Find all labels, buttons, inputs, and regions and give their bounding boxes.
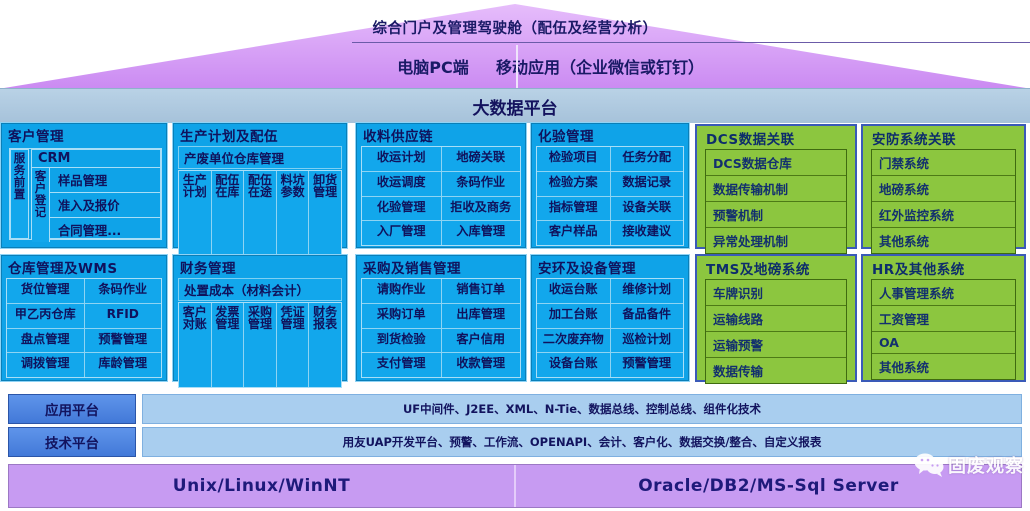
cell-data-transmission[interactable]: 数据传输机制	[706, 176, 846, 202]
cell-transport-route[interactable]: 运输线路	[706, 306, 846, 332]
cell-device-link[interactable]: 设备关联	[611, 197, 684, 221]
panel-assay-management[interactable]: 化验管理 检验项目 任务分配 检验方案 数据记录 指标管理 设备关联 客户样品 …	[530, 122, 690, 249]
cell-voucher-management[interactable]: 凭证管理	[277, 303, 309, 387]
cells-grid: 收运台账 维修计划 加工台账 备品备件 二次废弃物 巡检计划 设备台账 预警管理	[536, 278, 684, 378]
cell-admission-quote[interactable]: 准入及报价	[50, 193, 160, 218]
cell-collection-management[interactable]: 收款管理	[442, 353, 521, 377]
roof-section: 综合门户及管理驾驶舱（配伍及经营分析） 电脑PC端 移动应用（企业微信或钉钉）	[0, 0, 1030, 90]
os-label[interactable]: Unix/Linux/WinNT	[9, 465, 516, 507]
cell-transport-plan[interactable]: 收运计划	[362, 147, 441, 171]
cell-maintenance-plan[interactable]: 维修计划	[611, 279, 684, 303]
panel-title: 生产计划及配伍	[173, 123, 347, 146]
cell-production-plan[interactable]: 生产计划	[179, 171, 211, 254]
cell-processing-ledger[interactable]: 加工台账	[537, 304, 610, 328]
bigdata-platform-band: 大数据平台	[0, 88, 1030, 123]
cell-blend-in-stock[interactable]: 配伍在库	[212, 171, 244, 254]
cell-lab-management[interactable]: 化验管理	[362, 197, 441, 221]
architecture-diagram: 综合门户及管理驾驶舱（配伍及经营分析） 电脑PC端 移动应用（企业微信或钉钉） …	[0, 0, 1030, 511]
technology-platform-row: 技术平台 用友UAP开发平台、预警、工作流、OPENAPI、会计、客户化、数据交…	[8, 427, 1022, 457]
cell-transport-alert[interactable]: 运输预警	[706, 332, 846, 358]
green-list: 人事管理系统 工资管理 OA 其他系统	[871, 279, 1016, 380]
roof-cell-mobile[interactable]: 移动应用（企业微信或钉钉）	[516, 43, 684, 89]
cell-indicator-management[interactable]: 指标管理	[537, 197, 610, 221]
crm-box: CRM 客户登记 样品管理 准入及报价 合同管理...	[31, 149, 161, 239]
green-list: DCS数据仓库 数据传输机制 预警机制 异常处理机制	[705, 149, 847, 254]
panel-tms-weighbridge[interactable]: TMS及地磅系统 车牌识别 运输线路 运输预警 数据传输	[695, 254, 857, 382]
cell-barcode-operation[interactable]: 条码作业	[442, 172, 521, 196]
cell-spare-parts[interactable]: 备品备件	[611, 304, 684, 328]
cell-payroll-management[interactable]: 工资管理	[872, 306, 1015, 332]
panel-security-system-link[interactable]: 安防系统关联 门禁系统 地磅系统 红外监控系统 其他系统	[861, 124, 1026, 249]
cell-warehouse-entry[interactable]: 入库管理	[442, 221, 521, 245]
panel-material-supply-chain[interactable]: 收料供应链 收运计划 地磅关联 收运调度 条码作业 化验管理 拒收及商务 入厂管…	[355, 122, 527, 249]
cell-acceptance-advice[interactable]: 接收建议	[611, 221, 684, 245]
application-platform-content[interactable]: UF中间件、J2EE、XML、N-Tie、数据总线、控制总线、组件化技术	[142, 394, 1022, 424]
roof-cell-pc[interactable]: 电脑PC端	[352, 43, 514, 89]
cells-grid: 收运计划 地磅关联 收运调度 条码作业 化验管理 拒收及商务 入厂管理 入库管理	[361, 146, 521, 246]
panel-title: 财务管理	[173, 255, 347, 278]
cell-abc-warehouse[interactable]: 甲乙丙仓库	[7, 304, 84, 328]
cells-grid: 货位管理 条码作业 甲乙丙仓库 RFID 盘点管理 预警管理 调拨管理 库龄管理	[6, 278, 162, 378]
cell-data-record[interactable]: 数据记录	[611, 172, 684, 196]
cell-data-transmission[interactable]: 数据传输	[706, 358, 846, 383]
technology-platform-content[interactable]: 用友UAP开发平台、预警、工作流、OPENAPI、会计、客户化、数据交换/整合、…	[142, 427, 1022, 457]
cell-oa[interactable]: OA	[872, 332, 1015, 354]
cell-service-frontend[interactable]: 服务前置	[10, 149, 29, 239]
cell-access-control[interactable]: 门禁系统	[872, 150, 1015, 176]
crm-composite: 服务前置 CRM 客户登记 样品管理 准入及报价 合同管理...	[9, 148, 162, 240]
panel-title: 化验管理	[531, 123, 689, 146]
cell-requisition[interactable]: 请购作业	[362, 279, 441, 303]
vertical-cells: 生产计划 配伍在库 配伍在途 料坑参数 卸货管理	[178, 170, 342, 255]
cell-contract-management[interactable]: 合同管理...	[50, 218, 160, 242]
cell-unloading-management[interactable]: 卸货管理	[309, 171, 341, 254]
panel-title: TMS及地磅系统	[697, 256, 855, 279]
green-list: 门禁系统 地磅系统 红外监控系统 其他系统	[871, 149, 1016, 254]
cell-hr-system[interactable]: 人事管理系统	[872, 280, 1015, 306]
panel-title: 安环及设备管理	[531, 255, 689, 278]
roof-title: 综合门户及管理驾驶舱（配伍及经营分析）	[0, 17, 1030, 38]
panel-title: 客户管理	[1, 123, 167, 146]
cell-sales-order[interactable]: 销售订单	[442, 279, 521, 303]
cell-barcode-operation[interactable]: 条码作业	[85, 279, 162, 303]
panel-title: HR及其他系统	[863, 256, 1024, 279]
panel-hr-other-systems[interactable]: HR及其他系统 人事管理系统 工资管理 OA 其他系统	[861, 254, 1026, 382]
cell-plate-recognition[interactable]: 车牌识别	[706, 280, 846, 306]
application-platform-row: 应用平台 UF中间件、J2EE、XML、N-Tie、数据总线、控制总线、组件化技…	[8, 394, 1022, 424]
panel-production-plan[interactable]: 生产计划及配伍 产废单位仓库管理 生产计划 配伍在库 配伍在途 料坑参数 卸货管…	[172, 122, 348, 249]
cell-location-management[interactable]: 货位管理	[7, 279, 84, 303]
panel-customer-management[interactable]: 客户管理 服务前置 CRM 客户登记 样品管理 准入及报价 合同管理...	[0, 122, 168, 249]
wechat-icon	[914, 452, 944, 478]
cell-weighbridge-system[interactable]: 地磅系统	[872, 176, 1015, 202]
crm-title: CRM	[32, 150, 160, 168]
cell-purchase-order[interactable]: 采购订单	[362, 304, 441, 328]
cell-alert-mechanism[interactable]: 预警机制	[706, 202, 846, 228]
watermark-text: 固废观察	[948, 452, 1024, 478]
cell-exception-handling[interactable]: 异常处理机制	[706, 228, 846, 253]
cell-customer-sample[interactable]: 客户样品	[537, 221, 610, 245]
cell-stocktaking[interactable]: 盘点管理	[7, 329, 84, 353]
green-list: 车牌识别 运输线路 运输预警 数据传输	[705, 279, 847, 384]
cells-grid: 请购作业 销售订单 采购订单 出库管理 到货检验 客户信用 支付管理 收款管理	[361, 278, 521, 378]
cell-transport-dispatch[interactable]: 收运调度	[362, 172, 441, 196]
cells-grid: 检验项目 任务分配 检验方案 数据记录 指标管理 设备关联 客户样品 接收建议	[536, 146, 684, 246]
watermark: 固废观察	[914, 452, 1024, 478]
cell-alert-management[interactable]: 预警管理	[611, 353, 684, 377]
cell-purchase-management[interactable]: 采购管理	[244, 303, 276, 387]
cell-transport-ledger[interactable]: 收运台账	[537, 279, 610, 303]
cell-outbound-management[interactable]: 出库管理	[442, 304, 521, 328]
cell-payment-management[interactable]: 支付管理	[362, 353, 441, 377]
cell-rejection-business[interactable]: 拒收及商务	[442, 197, 521, 221]
cell-plant-entry[interactable]: 入厂管理	[362, 221, 441, 245]
cell-customer-registration[interactable]: 客户登记	[32, 168, 50, 242]
technology-platform-label[interactable]: 技术平台	[8, 427, 136, 457]
roof-channels: 电脑PC端 移动应用（企业微信或钉钉）	[352, 43, 684, 89]
panel-safety-equipment[interactable]: 安环及设备管理 收运台账 维修计划 加工台账 备品备件 二次废弃物 巡检计划 设…	[530, 254, 690, 382]
cell-secondary-waste[interactable]: 二次废弃物	[537, 329, 610, 353]
subbar-waste-unit-warehouse[interactable]: 产废单位仓库管理	[178, 146, 342, 169]
cell-infrared-monitoring[interactable]: 红外监控系统	[872, 202, 1015, 228]
panel-title: 采购及销售管理	[356, 255, 526, 278]
cell-inspection-scheme[interactable]: 检验方案	[537, 172, 610, 196]
cell-invoice-management[interactable]: 发票管理	[212, 303, 244, 387]
cell-equipment-ledger[interactable]: 设备台账	[537, 353, 610, 377]
cell-other-systems[interactable]: 其他系统	[872, 228, 1015, 253]
infrastructure-row: Unix/Linux/WinNT Oracle/DB2/MS-Sql Serve…	[8, 464, 1022, 508]
crm-rows: 样品管理 准入及报价 合同管理...	[50, 168, 160, 242]
roof-cell-separator	[516, 45, 518, 89]
panel-dcs-data-link[interactable]: DCS数据关联 DCS数据仓库 数据传输机制 预警机制 异常处理机制	[695, 124, 857, 249]
panel-title: DCS数据关联	[697, 126, 855, 149]
panel-title: 安防系统关联	[863, 126, 1024, 149]
cell-task-allocation[interactable]: 任务分配	[611, 147, 684, 171]
cell-other-systems[interactable]: 其他系统	[872, 354, 1015, 379]
cell-dcs-data-warehouse[interactable]: DCS数据仓库	[706, 150, 846, 176]
cell-blend-in-transit[interactable]: 配伍在途	[244, 171, 276, 254]
subbar-disposal-cost[interactable]: 处置成本（材料会计）	[178, 278, 342, 301]
panel-warehouse-wms[interactable]: 仓库管理及WMS 货位管理 条码作业 甲乙丙仓库 RFID 盘点管理 预警管理 …	[0, 254, 168, 382]
cell-weighbridge-link[interactable]: 地磅关联	[442, 147, 521, 171]
modules-grid: 客户管理 服务前置 CRM 客户登记 样品管理 准入及报价 合同管理...	[0, 122, 1030, 388]
cell-financial-reports[interactable]: 财务报表	[309, 303, 341, 387]
panel-title: 仓库管理及WMS	[1, 255, 167, 278]
panel-finance-management[interactable]: 财务管理 处置成本（材料会计） 客户对账 发票管理 采购管理 凭证管理 财务报表	[172, 254, 348, 382]
cell-customer-credit[interactable]: 客户信用	[442, 329, 521, 353]
cell-arrival-inspection[interactable]: 到货检验	[362, 329, 441, 353]
panel-purchase-sales[interactable]: 采购及销售管理 请购作业 销售订单 采购订单 出库管理 到货检验 客户信用 支付…	[355, 254, 527, 382]
cell-stock-age-management[interactable]: 库龄管理	[85, 353, 162, 377]
application-platform-label[interactable]: 应用平台	[8, 394, 136, 424]
cell-transfer-management[interactable]: 调拨管理	[7, 353, 84, 377]
cell-sample-management[interactable]: 样品管理	[50, 168, 160, 193]
vertical-cells: 客户对账 发票管理 采购管理 凭证管理 财务报表	[178, 302, 342, 388]
cell-inspection-plan[interactable]: 巡检计划	[611, 329, 684, 353]
cell-inspection-items[interactable]: 检验项目	[537, 147, 610, 171]
panel-title: 收料供应链	[356, 123, 526, 146]
cell-customer-reconciliation[interactable]: 客户对账	[179, 303, 211, 387]
cell-pit-parameters[interactable]: 料坑参数	[277, 171, 309, 254]
cell-alert-management[interactable]: 预警管理	[85, 329, 162, 353]
cell-rfid[interactable]: RFID	[85, 304, 162, 328]
